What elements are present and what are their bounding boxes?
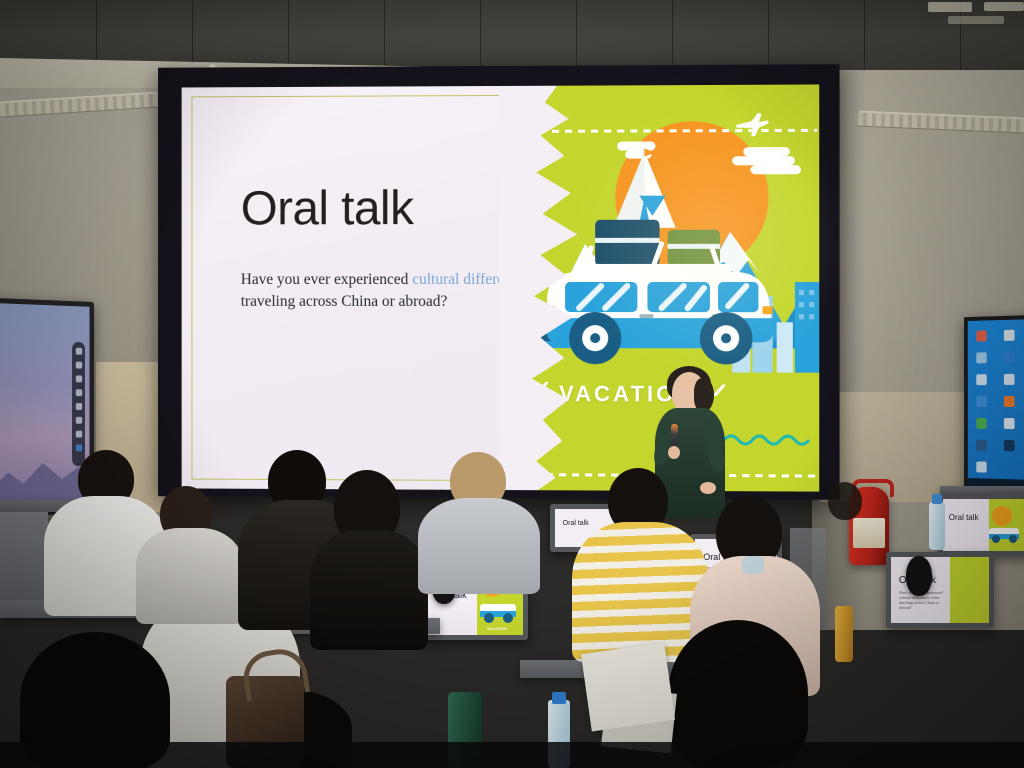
desktop-icon[interactable]: [976, 396, 986, 407]
presenter-hand: [668, 446, 680, 459]
cloud-icon: [750, 165, 801, 174]
toolbar-icon[interactable]: [75, 389, 81, 396]
projection-screen: Oral talk Have you ever experienced cult…: [158, 64, 840, 500]
desktop-icon[interactable]: [976, 352, 986, 363]
slide-title: Oral talk: [241, 181, 414, 236]
desktop-icon[interactable]: [1004, 418, 1015, 429]
student-body: [136, 528, 244, 624]
toolbar-icon[interactable]: [75, 431, 81, 438]
extinguisher-label: [853, 518, 885, 548]
bottle-cap: [932, 494, 942, 504]
ceiling-light: [928, 2, 972, 12]
desk-partition: [0, 512, 48, 600]
toolbar-icon[interactable]: [75, 444, 81, 451]
classroom-photo: Oral talk Have you ever experienced cult…: [0, 0, 1024, 768]
cloud-icon: [732, 156, 795, 165]
cloud-icon: [743, 147, 790, 156]
student-body: [418, 498, 540, 594]
student-monitor[interactable]: Oral talk: [938, 494, 1024, 556]
slide-subtitle-part1: Have you ever experienced: [241, 271, 412, 288]
presenter-hand: [700, 482, 716, 494]
desktop-icon[interactable]: [1004, 396, 1015, 407]
bottle-cap: [552, 692, 566, 704]
water-bottle: [835, 606, 853, 662]
ceiling-light: [984, 2, 1024, 11]
toolbar-icon[interactable]: [75, 348, 81, 355]
desktop-icon[interactable]: [1004, 330, 1015, 341]
water-bottle: [929, 502, 945, 550]
ceiling-light: [948, 16, 1004, 24]
wall-monitor[interactable]: [964, 315, 1024, 495]
student-body: [310, 530, 428, 650]
headphones[interactable]: [906, 556, 932, 596]
toolbar-icon[interactable]: [75, 362, 81, 369]
desktop-icon[interactable]: [976, 330, 986, 341]
desktop-icon[interactable]: [976, 374, 986, 385]
desktop-icon[interactable]: [976, 418, 986, 429]
desktop-icon[interactable]: [976, 440, 986, 451]
desktop-icon[interactable]: [1004, 352, 1015, 363]
airplane-icon: [732, 112, 770, 138]
toolbar-icon[interactable]: [75, 375, 81, 382]
student-monitor[interactable]: Oral talk Have you ever experienced cult…: [886, 552, 994, 628]
presenter-hair-side: [694, 378, 714, 412]
face-mask: [742, 556, 764, 574]
desktop-icon[interactable]: [1004, 440, 1015, 451]
student-head: [828, 482, 862, 520]
foreground-shadow: [0, 742, 1024, 768]
desktop-icon[interactable]: [1004, 374, 1015, 385]
toolbar-icon[interactable]: [75, 417, 81, 424]
desktop-icon[interactable]: [976, 461, 986, 472]
toolbar-icon[interactable]: [75, 403, 81, 410]
